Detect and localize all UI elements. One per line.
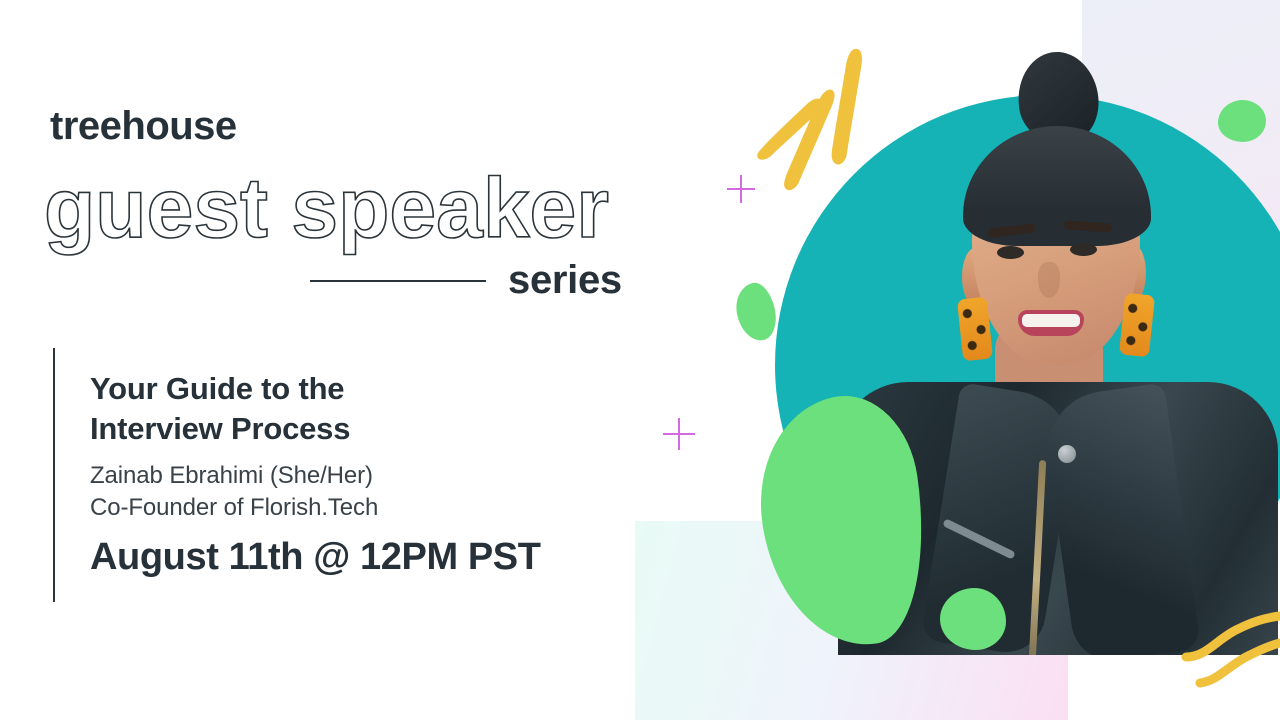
series-label: series — [508, 258, 622, 303]
eye-left — [997, 246, 1024, 259]
green-blob-corner-icon — [1218, 100, 1266, 142]
guest-speaker-promo-slide: treehouse guest speaker series Your Guid… — [0, 0, 1280, 720]
talk-title-line-2: Interview Process — [90, 409, 350, 449]
event-datetime: August 11th @ 12PM PST — [90, 536, 541, 579]
speaker-name: Zainab Ebrahimi (She/Her) — [90, 460, 378, 492]
teeth — [1022, 314, 1080, 327]
brand-name: treehouse — [50, 104, 237, 149]
series-divider-rule — [310, 280, 486, 282]
jacket-stud — [1058, 445, 1076, 463]
headline-outline-text: guest speaker — [44, 160, 609, 257]
speaker-info: Zainab Ebrahimi (She/Her) Co-Founder of … — [90, 460, 378, 524]
plus-icon — [727, 175, 755, 203]
plus-icon — [663, 418, 695, 450]
earring-right — [1119, 293, 1155, 358]
talk-title: Your Guide to the Interview Process — [90, 369, 350, 448]
vertical-accent-bar — [53, 348, 55, 602]
nose — [1038, 262, 1060, 298]
eye-right — [1070, 243, 1097, 256]
earring-left — [957, 297, 993, 362]
green-blob-small-icon — [731, 280, 780, 345]
series-row: series — [310, 258, 622, 303]
mouth — [1018, 310, 1084, 336]
green-blob-round-icon — [940, 588, 1006, 650]
talk-title-line-1: Your Guide to the — [90, 369, 350, 409]
speaker-role: Co-Founder of Florish.Tech — [90, 492, 378, 524]
